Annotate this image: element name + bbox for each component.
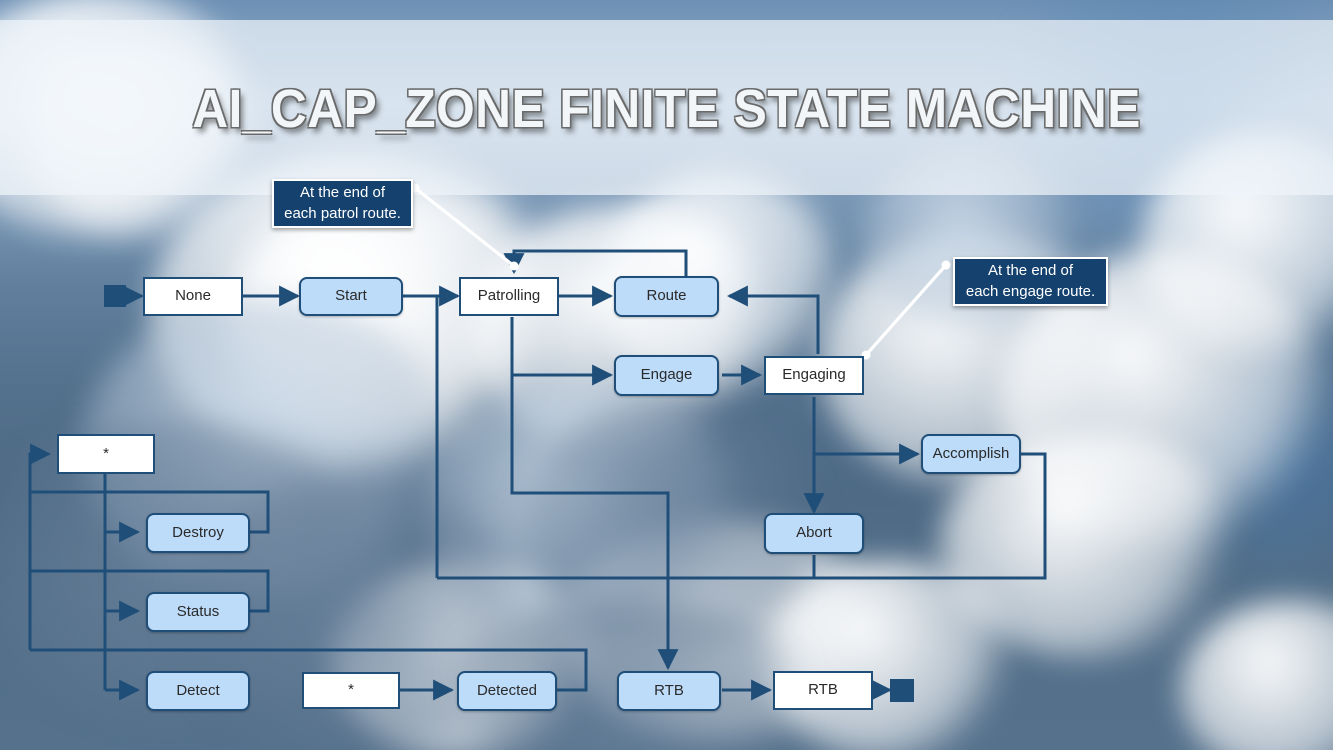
callout-line-2: each patrol route.: [284, 204, 401, 224]
end-marker: [890, 679, 914, 702]
callout-line-1: At the end of: [300, 183, 385, 203]
node-label: RTB: [654, 683, 684, 700]
node-label: Engage: [641, 367, 693, 384]
node-destroy[interactable]: Destroy: [146, 513, 250, 553]
node-label: Patrolling: [478, 288, 541, 305]
node-label: Abort: [796, 525, 832, 542]
node-rtb-transition[interactable]: RTB: [617, 671, 721, 711]
node-label: Detect: [176, 683, 219, 700]
node-accomplish[interactable]: Accomplish: [921, 434, 1021, 474]
node-route[interactable]: Route: [614, 276, 719, 317]
node-engage[interactable]: Engage: [614, 355, 719, 396]
node-label: *: [348, 682, 354, 699]
node-label: Accomplish: [933, 446, 1010, 463]
node-none[interactable]: None: [143, 277, 243, 316]
node-label: RTB: [808, 682, 838, 699]
node-label: Start: [335, 288, 367, 305]
node-patrolling[interactable]: Patrolling: [459, 277, 559, 316]
slide-canvas: AI_CAP_ZONE FINITE STATE MACHINE: [0, 0, 1333, 750]
page-title: AI_CAP_ZONE FINITE STATE MACHINE: [53, 78, 1279, 140]
callout-line-2: each engage route.: [966, 282, 1095, 302]
node-status[interactable]: Status: [146, 592, 250, 632]
node-start[interactable]: Start: [299, 277, 403, 316]
node-any-top[interactable]: *: [57, 434, 155, 474]
callout-patrol-note[interactable]: At the end of each patrol route.: [272, 179, 413, 228]
node-detect[interactable]: Detect: [146, 671, 250, 711]
node-rtb-state[interactable]: RTB: [773, 671, 873, 710]
node-label: Detected: [477, 683, 537, 700]
node-any-bottom[interactable]: *: [302, 672, 400, 709]
node-label: Route: [646, 288, 686, 305]
node-engaging[interactable]: Engaging: [764, 356, 864, 395]
node-detected[interactable]: Detected: [457, 671, 557, 711]
node-label: *: [103, 446, 109, 463]
node-label: Engaging: [782, 367, 845, 384]
start-marker: [104, 285, 126, 307]
node-label: Destroy: [172, 525, 224, 542]
callout-engage-note[interactable]: At the end of each engage route.: [953, 257, 1108, 306]
node-abort[interactable]: Abort: [764, 513, 864, 554]
node-label: Status: [177, 604, 220, 621]
callout-line-1: At the end of: [988, 261, 1073, 281]
node-label: None: [175, 288, 211, 305]
